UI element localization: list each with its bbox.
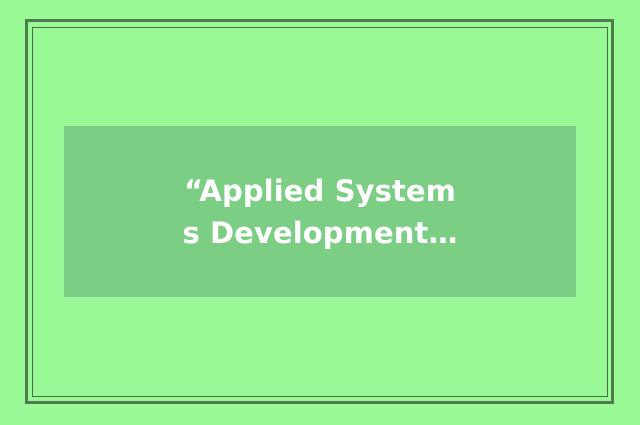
- quote-text: “Applied System s Development…: [64, 170, 576, 254]
- quote-band: “Applied System s Development…: [64, 126, 576, 297]
- slide-canvas: “Applied System s Development…: [0, 0, 640, 425]
